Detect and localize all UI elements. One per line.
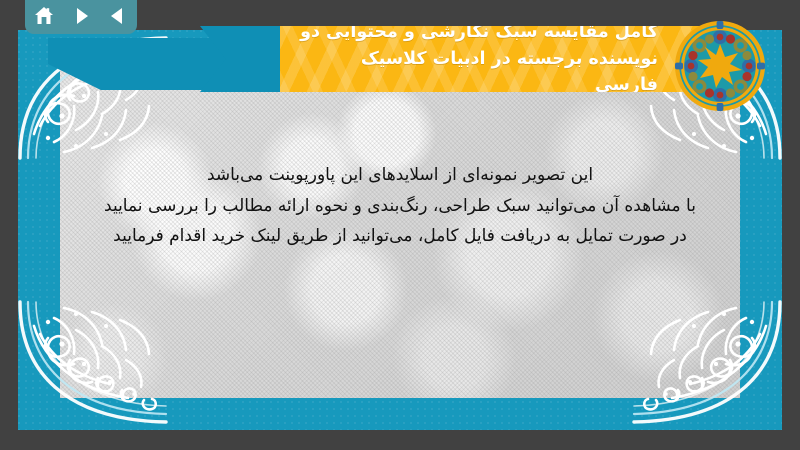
triangle-left-icon	[108, 6, 128, 26]
slide-navigation-bar	[25, 0, 137, 34]
body-line-1: این تصویر نمونه‌ای از اسلایدهای این پاور…	[58, 162, 742, 190]
slide-stage: این تصویر نمونه‌ای از اسلایدهای این پاور…	[0, 0, 800, 450]
slide-body-text: این تصویر نمونه‌ای از اسلایدهای این پاور…	[18, 162, 782, 254]
home-button[interactable]	[31, 3, 57, 29]
home-icon	[33, 5, 55, 27]
decorative-frame: این تصویر نمونه‌ای از اسلایدهای این پاور…	[18, 30, 782, 430]
body-line-2: با مشاهده آن می‌توانید سبک طراحی، رنگ‌بن…	[58, 193, 742, 221]
next-slide-button[interactable]	[68, 3, 94, 29]
triangle-right-icon	[71, 6, 91, 26]
previous-slide-button[interactable]	[105, 3, 131, 29]
body-line-3: در صورت تمایل به دریافت فایل کامل، می‌تو…	[58, 223, 742, 251]
